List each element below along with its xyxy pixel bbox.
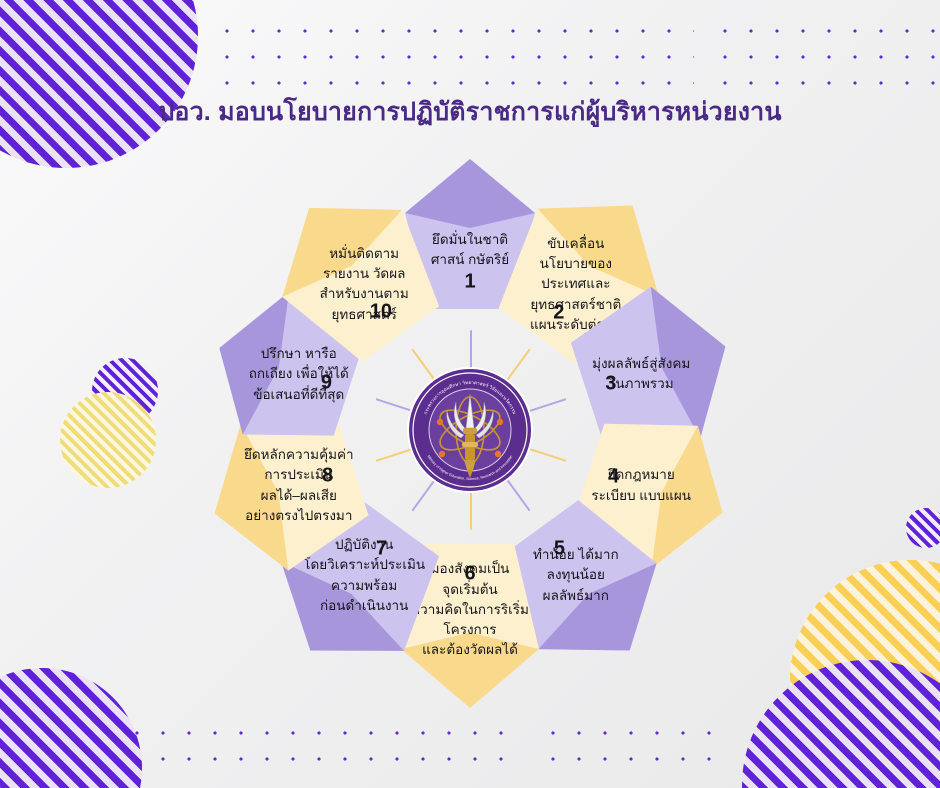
dot-grid-top-right xyxy=(712,18,940,92)
policy-item-text: ยึดหลักความคุ้มค่าการประเมินผลได้–ผลเสีย… xyxy=(232,445,366,526)
striped-circle-bottom-right-purple-icon xyxy=(742,660,940,788)
policy-item-text: ยึดกฎหมายระเบียบ แบบแผน xyxy=(576,465,706,506)
page-title: ปอว. มอบนโยบายการปฏิบัติราชการแก่ผู้บริห… xyxy=(0,96,940,129)
policy-item-text: หมั่นติดตามรายงาน วัดผลสำหรับงานตามยุทธศ… xyxy=(300,244,428,325)
dot-grid-bottom-right xyxy=(540,720,730,782)
policy-item-text: มุ่งผลลัพธ์สู่สังคมในภาพรวม xyxy=(571,354,711,395)
striped-circle-right-small-icon xyxy=(906,508,940,548)
policy-item-text: ปรึกษา หารือถกเถียง เพื่อให้ได้ข้อเสนอที… xyxy=(234,344,364,405)
ministry-emblem: กระทรวงการอุดมศึกษา วิทยาศาสตร์ วิจัยและ… xyxy=(406,366,534,494)
policy-item-number-4: 4 xyxy=(608,465,619,488)
striped-circle-bottom-left-icon xyxy=(0,668,142,788)
striped-circle-left-small-icon xyxy=(92,358,158,424)
policy-item-10[interactable]: หมั่นติดตามรายงาน วัดผลสำหรับงานตามยุทธศ… xyxy=(281,193,429,349)
dot-grid-bottom-left xyxy=(124,720,524,782)
policy-item-number-3: 3 xyxy=(605,372,616,395)
policy-item-number-9: 9 xyxy=(321,371,332,394)
policy-item-number-10: 10 xyxy=(370,300,392,323)
policy-item-8[interactable]: ยึดหลักความคุ้มค่าการประเมินผลได้–ผลเสีย… xyxy=(207,418,361,564)
policy-item-number-7: 7 xyxy=(376,538,387,561)
striped-circle-top-left-icon xyxy=(0,0,198,168)
policy-item-number-2: 2 xyxy=(553,302,564,325)
striped-circle-bottom-right-yellow-icon xyxy=(790,560,940,788)
policy-item-number-6: 6 xyxy=(464,562,475,585)
striped-circle-left-yellow-icon xyxy=(60,392,156,488)
policy-item-number-5: 5 xyxy=(554,538,565,561)
policy-wheel: ยึดมั่นในชาติศาสน์ กษัตริย์1ขับเคลื่อนนโ… xyxy=(180,160,760,700)
dot-grid-top-left xyxy=(214,18,694,92)
policy-item-text: ยึดมั่นในชาติศาสน์ กษัตริย์ xyxy=(415,230,525,271)
policy-item-number-8: 8 xyxy=(322,465,333,488)
policy-item-number-1: 1 xyxy=(464,271,475,294)
infographic-canvas: ปอว. มอบนโยบายการปฏิบัติราชการแก่ผู้บริห… xyxy=(0,0,940,788)
